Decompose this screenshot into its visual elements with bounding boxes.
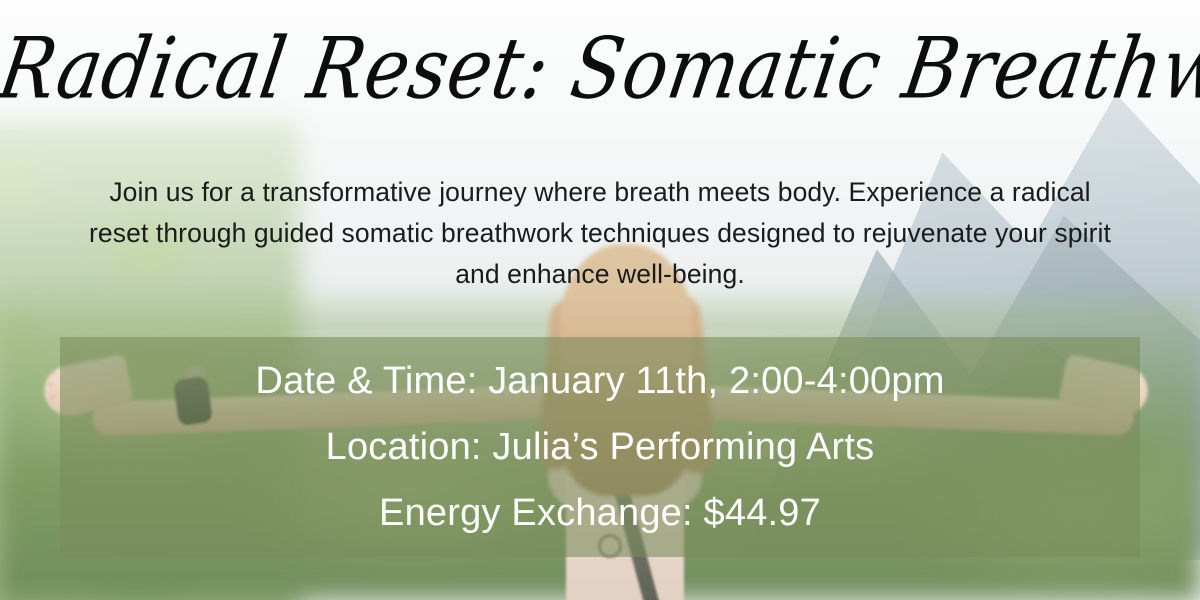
event-details-panel: Date & Time: January 11th, 2:00-4:00pm L…	[60, 337, 1140, 557]
event-banner: Radical Reset: Somatic Breathwork Join u…	[0, 0, 1200, 600]
event-title: Radical Reset: Somatic Breathwork	[0, 20, 1200, 120]
event-description: Join us for a transformative journey whe…	[88, 172, 1112, 295]
price-line: Energy Exchange: $44.97	[379, 482, 821, 544]
date-time-line: Date & Time: January 11th, 2:00-4:00pm	[255, 350, 944, 412]
location-line: Location: Julia’s Performing Arts	[326, 416, 875, 478]
